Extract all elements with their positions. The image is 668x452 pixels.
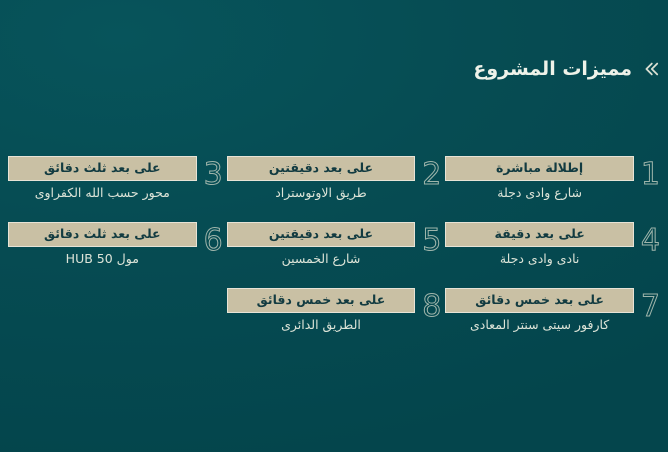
page-title: مميزات المشروع [473, 58, 632, 81]
feature-subtitle: محور حسب الله الكفراوى [8, 185, 197, 201]
feature-item-4[interactable]: 4 على بعد دقيقة نادى وادى دجلة [445, 218, 660, 284]
feature-body: على بعد دقيقتين طريق الاوتوستراد [227, 156, 416, 200]
feature-item-7[interactable]: 7 على بعد خمس دقائق كارفور سيتى سنتر الم… [445, 284, 660, 350]
feature-number: 1 [641, 156, 660, 192]
slide-root: مميزات المشروع 1 إطلالة مباشرة شارع وادى… [0, 0, 668, 452]
feature-badge: على بعد خمس دقائق [445, 288, 634, 313]
feature-subtitle: الطريق الدائرى [227, 317, 416, 333]
feature-subtitle: نادى وادى دجلة [445, 251, 634, 267]
feature-number: 6 [204, 222, 223, 258]
feature-badge: على بعد دقيقتين [227, 156, 416, 181]
feature-item-8[interactable]: 8 على بعد خمس دقائق الطريق الدائرى [227, 284, 442, 350]
feature-badge: على بعد ثلث دقائق [8, 222, 197, 247]
feature-body: إطلالة مباشرة شارع وادى دجلة [445, 156, 634, 200]
feature-subtitle: شارع وادى دجلة [445, 185, 634, 201]
feature-number: 5 [422, 222, 441, 258]
feature-body: على بعد خمس دقائق الطريق الدائرى [227, 288, 416, 332]
feature-body: على بعد خمس دقائق كارفور سيتى سنتر المعا… [445, 288, 634, 332]
feature-number: 4 [641, 222, 660, 258]
feature-subtitle: شارع الخمسين [227, 251, 416, 267]
feature-item-6[interactable]: 6 على بعد ثلث دقائق مول HUB 50 [8, 218, 223, 284]
feature-item-1[interactable]: 1 إطلالة مباشرة شارع وادى دجلة [445, 152, 660, 218]
feature-item-2[interactable]: 2 على بعد دقيقتين طريق الاوتوستراد [227, 152, 442, 218]
feature-subtitle: كارفور سيتى سنتر المعادى [445, 317, 634, 333]
feature-badge: على بعد ثلث دقائق [8, 156, 197, 181]
feature-body: على بعد ثلث دقائق محور حسب الله الكفراوى [8, 156, 197, 200]
feature-item-5[interactable]: 5 على بعد دقيقتين شارع الخمسين [227, 218, 442, 284]
feature-badge: على بعد دقيقتين [227, 222, 416, 247]
feature-badge: على بعد خمس دقائق [227, 288, 416, 313]
features-grid: 1 إطلالة مباشرة شارع وادى دجلة 2 على بعد… [8, 152, 660, 350]
feature-item-3[interactable]: 3 على بعد ثلث دقائق محور حسب الله الكفرا… [8, 152, 223, 218]
feature-body: على بعد دقيقتين شارع الخمسين [227, 222, 416, 266]
feature-number: 7 [641, 288, 660, 324]
feature-number: 2 [422, 156, 441, 192]
feature-badge: إطلالة مباشرة [445, 156, 634, 181]
feature-badge: على بعد دقيقة [445, 222, 634, 247]
feature-body: على بعد دقيقة نادى وادى دجلة [445, 222, 634, 266]
header: مميزات المشروع [0, 58, 668, 81]
feature-subtitle: طريق الاوتوستراد [227, 185, 416, 201]
double-chevron-left-icon [642, 58, 660, 80]
feature-number: 8 [422, 288, 441, 324]
feature-body: على بعد ثلث دقائق مول HUB 50 [8, 222, 197, 266]
feature-number: 3 [204, 156, 223, 192]
feature-subtitle: مول HUB 50 [8, 251, 197, 267]
